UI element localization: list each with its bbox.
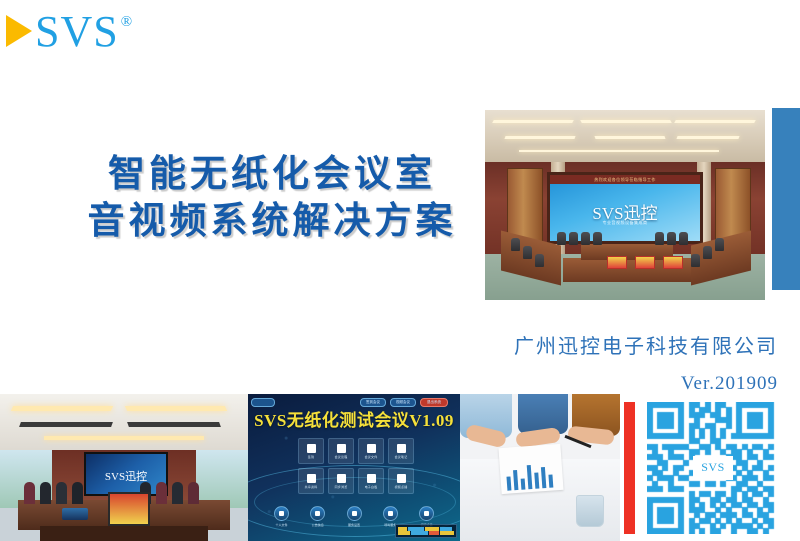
bottom-button-0[interactable]: 个人文件	[274, 506, 289, 527]
company-block: 广州迅控电子科技有限公司 Ver.201909	[514, 330, 778, 395]
ceiling-light	[492, 120, 574, 123]
title-line-2: 音视频系统解决方案	[62, 197, 482, 244]
screen-subtitle: 专业音视频设备集成商	[550, 220, 700, 226]
software-title: SVS无纸化测试会议V1.09	[248, 406, 460, 431]
ceiling-light	[11, 406, 113, 411]
desk-flag	[607, 256, 627, 269]
chart-document	[498, 444, 563, 494]
attendee	[172, 482, 183, 504]
edit-icon	[397, 444, 406, 453]
tile-label: 会议笔记	[395, 455, 408, 459]
tile-files[interactable]: 会议文件	[358, 438, 384, 464]
water-glass	[576, 495, 604, 527]
ceiling	[485, 110, 765, 162]
qr-center-logo: SVS	[693, 456, 733, 480]
bottom-image-strip: SVS迅控 签到会议 视频会议 退出系统 SVS无纸化测试会议V1.09	[0, 394, 800, 541]
chair	[655, 232, 664, 245]
chair	[581, 232, 590, 245]
bottom-button-1[interactable]: 公告信息	[310, 506, 325, 527]
ceiling-light	[504, 136, 575, 139]
chart-bar	[541, 467, 546, 488]
notice-icon	[310, 506, 325, 521]
attendee	[156, 482, 167, 504]
desk-flag	[663, 256, 683, 269]
folder-icon	[307, 474, 316, 483]
tile-notes[interactable]: 会议笔记	[388, 438, 414, 464]
ceiling-light	[125, 406, 227, 411]
ceiling-light	[594, 136, 665, 139]
qr-center-text: SVS	[701, 460, 725, 475]
screen-logo: SVS迅控	[86, 468, 166, 484]
tile-label: 电子白板	[365, 485, 378, 489]
red-accent-bar	[624, 402, 635, 534]
chair	[511, 238, 520, 251]
tile-label: 签到	[308, 455, 314, 459]
hero-conference-room-image: 热烈欢迎各位领导莅临指导工作 SVS迅控 专业音视频设备集成商	[485, 110, 765, 300]
chair	[691, 254, 700, 267]
blue-accent-bar	[772, 108, 800, 290]
status-chip	[440, 531, 454, 535]
status-chip	[398, 531, 410, 535]
conference-table-mid	[581, 244, 673, 260]
video-icon	[419, 506, 434, 521]
ceiling-beam	[19, 422, 113, 427]
tile-whiteboard[interactable]: 电子白板	[358, 468, 384, 494]
ceiling-light	[44, 436, 204, 440]
chair	[667, 232, 676, 245]
tile-sync[interactable]: 同步浏览	[328, 468, 354, 494]
tile-shared[interactable]: 共享资料	[298, 468, 324, 494]
desk-flag	[635, 256, 655, 269]
bottom-button-label: 服务设置	[348, 523, 360, 527]
triangle-right-icon	[6, 15, 32, 47]
tile-label: 共享资料	[305, 485, 318, 489]
team-discussion-photo	[460, 394, 620, 541]
tile-label: 会议文件	[365, 455, 378, 459]
attendee	[188, 482, 199, 504]
chart-bar	[513, 470, 518, 490]
chair	[523, 246, 532, 259]
chart-bar	[506, 476, 511, 490]
document-icon	[337, 444, 346, 453]
version-label: Ver.201909	[514, 373, 778, 395]
refresh-icon	[337, 474, 346, 483]
conference-table-front	[40, 526, 208, 541]
tile-qiandao[interactable]: 签到	[298, 438, 324, 464]
person-shirt	[518, 394, 568, 434]
ceiling-light	[519, 150, 719, 152]
paperless-software-ui: 签到会议 视频会议 退出系统 SVS无纸化测试会议V1.09 签到 会议议程 会…	[248, 394, 460, 541]
chair	[535, 254, 544, 267]
chart-bar	[527, 465, 533, 489]
logo-wordmark: SVS	[35, 12, 119, 52]
page-title: 智能无纸化会议室 音视频系统解决方案	[62, 150, 482, 244]
company-name: 广州迅控电子科技有限公司	[514, 330, 778, 359]
chart-bar	[534, 473, 539, 489]
presentation-cover-slide: SVS ® 智能无纸化会议室 音视频系统解决方案 广州迅控电子科技有限公司 Ve…	[0, 0, 800, 541]
search-doc-icon	[367, 444, 376, 453]
bottom-button-2[interactable]: 服务设置	[347, 506, 362, 527]
attendee	[56, 482, 67, 504]
desk-terminal	[62, 508, 88, 520]
service-icon	[383, 506, 398, 521]
title-line-1: 智能无纸化会议室	[62, 150, 482, 197]
ceiling-beam	[127, 422, 221, 427]
chair	[679, 232, 688, 245]
laptop-screen	[108, 492, 150, 526]
ceiling-light	[580, 120, 672, 123]
tile-agenda[interactable]: 会议议程	[328, 438, 354, 464]
qr-code[interactable]: SVS	[647, 402, 779, 534]
bottom-button-label: 公告信息	[312, 523, 324, 527]
ceiling	[0, 394, 248, 450]
gear-icon	[347, 506, 362, 521]
tile-label: 会议议程	[335, 455, 348, 459]
chair	[715, 238, 724, 251]
user-file-icon	[274, 506, 289, 521]
function-tile-grid: 签到 会议议程 会议文件 会议笔记 共享资料	[298, 438, 416, 494]
chair	[703, 246, 712, 259]
chair	[593, 232, 602, 245]
chart-bar	[521, 478, 526, 489]
tile-video[interactable]: 视频点播	[388, 468, 414, 494]
status-chip	[429, 531, 439, 535]
status-line-1	[398, 531, 454, 535]
chair	[569, 232, 578, 245]
ceiling-light	[676, 136, 739, 139]
conference-room-photo: SVS迅控	[0, 394, 248, 541]
briefcase-icon	[397, 474, 406, 483]
tile-label: 视频点播	[395, 485, 408, 489]
tile-label: 同步浏览	[335, 485, 348, 489]
ceiling-light	[674, 120, 756, 123]
svs-logo: SVS ®	[6, 12, 132, 52]
qr-code-block: SVS	[620, 394, 800, 541]
screen-banner: 热烈欢迎各位领导莅临指导工作	[550, 175, 700, 184]
chair	[557, 232, 566, 245]
chart-bar	[548, 475, 553, 488]
attendee	[40, 482, 51, 504]
attendee	[24, 482, 35, 504]
status-chip	[411, 531, 429, 535]
status-bar	[395, 524, 457, 538]
bottom-button-label: 个人文件	[275, 523, 287, 527]
registered-trademark-icon: ®	[121, 14, 132, 31]
camera-icon	[367, 474, 376, 483]
attendee	[72, 482, 83, 504]
clipboard-icon	[307, 444, 316, 453]
